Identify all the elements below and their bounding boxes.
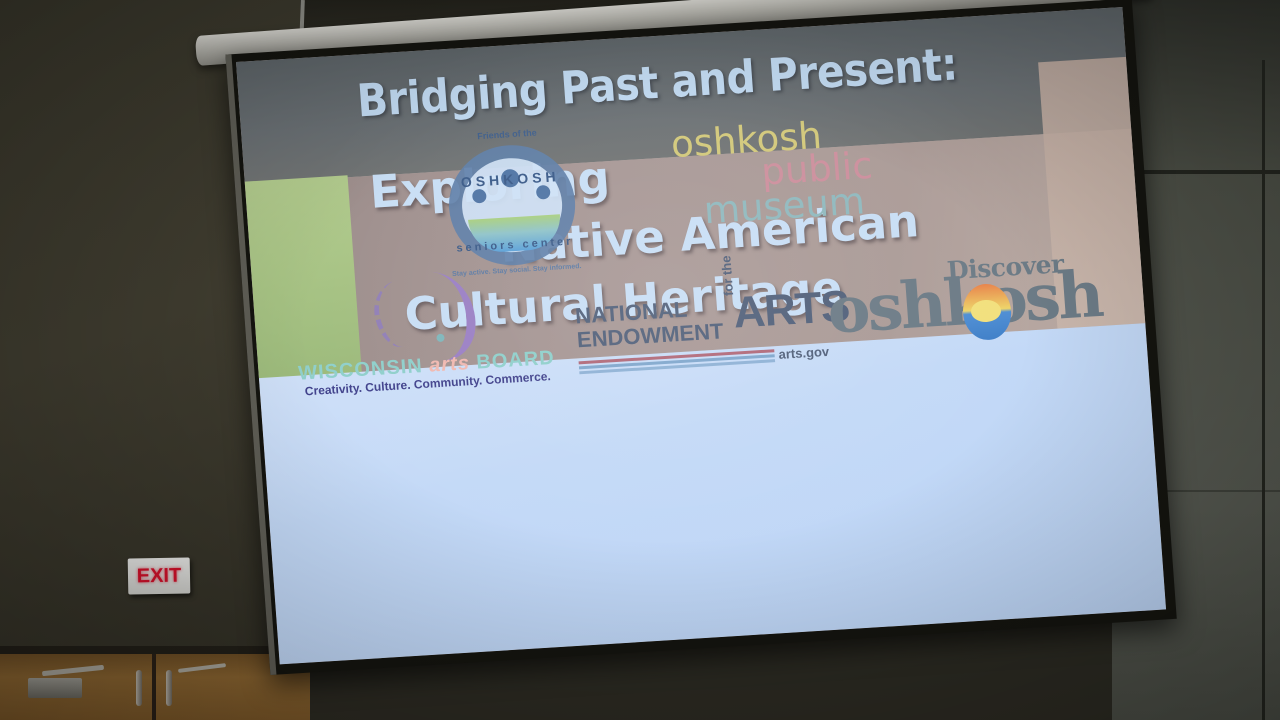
wall-panel-seam-vertical <box>1262 60 1265 720</box>
logo-friends-oshkosh-seniors-center: Friends of the OSHKOSH seniors center St… <box>432 123 593 282</box>
logo-national-endowment-for-the-arts: NATIONAL ENDOWMENT for the ARTS arts.gov <box>574 290 805 390</box>
room-scene: EXIT Bridging Past and Present: Explorin… <box>0 0 1280 720</box>
door-center-gap <box>152 654 156 720</box>
nea-word-endowment: ENDOWMENT <box>576 320 724 351</box>
seal-head-left <box>472 189 487 204</box>
opm-word-museum: museum <box>702 179 866 232</box>
baseboard <box>300 690 1080 720</box>
wab-word-arts: arts <box>428 352 470 376</box>
door-closer-body <box>28 678 82 698</box>
exit-sign: EXIT <box>128 557 191 594</box>
projection-screen: Bridging Past and Present: Exploring Nat… <box>236 7 1166 664</box>
seal-head-right <box>536 185 551 200</box>
nea-url: arts.gov <box>778 344 830 362</box>
logo-discover-oshkosh: oshkosh Discover <box>818 246 1114 356</box>
exit-sign-label: EXIT <box>137 566 182 587</box>
logo-oshkosh-public-museum: oshkosh public museum <box>662 108 920 243</box>
door-handle-right[interactable] <box>166 670 172 706</box>
presentation-slide: Bridging Past and Present: Exploring Nat… <box>236 7 1166 664</box>
logo-wisconsin-arts-board: WISCONSIN arts BOARD Creativity. Culture… <box>290 265 558 396</box>
door-handle-left[interactable] <box>136 670 142 706</box>
